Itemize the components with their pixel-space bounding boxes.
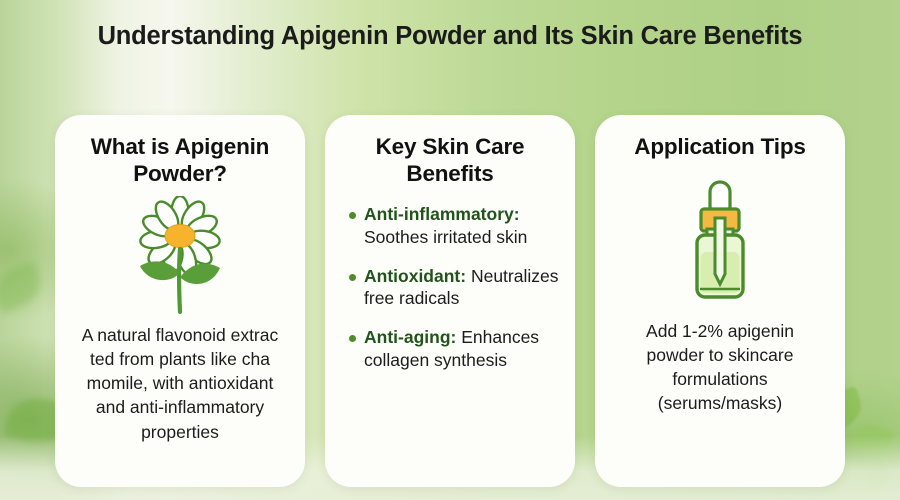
card-row: What is Apigenin Powder? xyxy=(55,115,855,487)
list-item: Antioxidant: Neutralizes free radicals xyxy=(349,265,559,311)
card-application-tips: Application Tips xyxy=(595,115,845,487)
card-what-is-apigenin-powder: What is Apigenin Powder? xyxy=(55,115,305,487)
card-title: Application Tips xyxy=(634,133,805,160)
bullet-dot-icon xyxy=(349,335,356,342)
page-title: Understanding Apigenin Powder and Its Sk… xyxy=(0,22,900,51)
bullet-dot-icon xyxy=(349,274,356,281)
card-key-skin-care-benefits: Key Skin Care Benefits Anti-inflammatory… xyxy=(325,115,575,487)
list-item-label: Antioxidant: xyxy=(364,266,466,286)
card-title: Key Skin Care Benefits xyxy=(341,133,559,187)
background-leaf-decor xyxy=(0,260,47,313)
list-item-text: Antioxidant: Neutralizes free radicals xyxy=(364,265,559,311)
card-body-text: A natural flavonoid extrac ted from plan… xyxy=(71,323,289,444)
list-item-description: Soothes irritated skin xyxy=(364,227,527,247)
daisy-flower-icon xyxy=(71,195,289,315)
list-item: Anti-inflammatory: Soothes irritated ski… xyxy=(349,203,559,249)
list-item-label: Anti-aging: xyxy=(364,327,456,347)
dropper-bottle-icon xyxy=(611,176,829,301)
benefits-list: Anti-inflammatory: Soothes irritated ski… xyxy=(341,203,559,372)
list-item-text: Anti-inflammatory: Soothes irritated ski… xyxy=(364,203,559,249)
card-body-text: Add 1-2% apigenin powder to skincare for… xyxy=(611,319,829,416)
list-item: Anti-aging: Enhances collagen synthesis xyxy=(349,326,559,372)
list-item-text: Anti-aging: Enhances collagen synthesis xyxy=(364,326,559,372)
infographic-canvas: Understanding Apigenin Powder and Its Sk… xyxy=(0,0,900,500)
list-item-label: Anti-inflammatory: xyxy=(364,204,520,224)
card-title: What is Apigenin Powder? xyxy=(71,133,289,187)
bullet-dot-icon xyxy=(349,212,356,219)
